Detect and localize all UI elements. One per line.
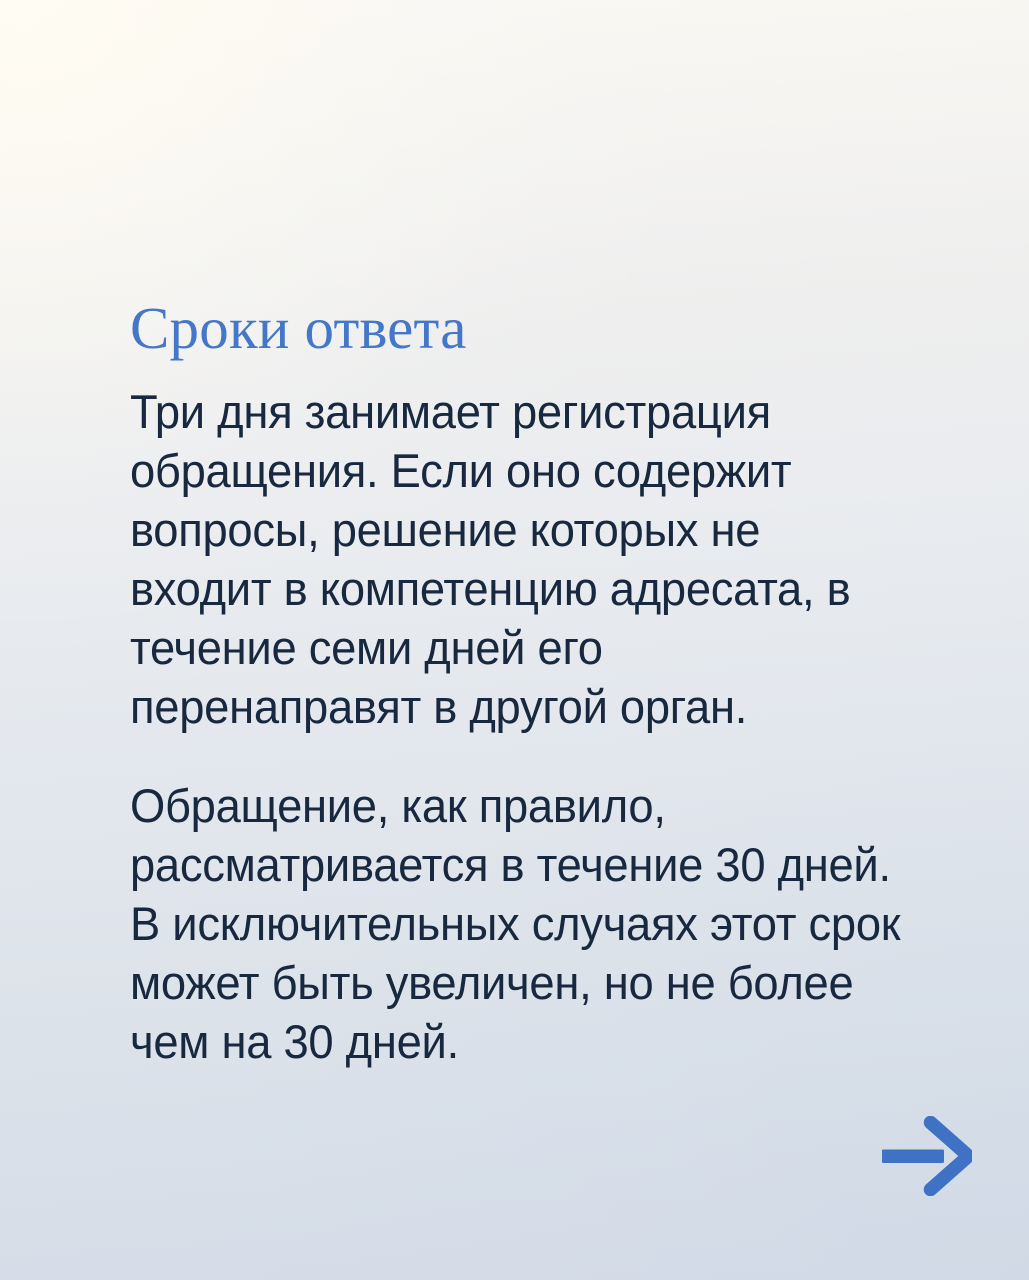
- body-paragraph-1: Три дня занимает регистрация обращения. …: [130, 382, 902, 736]
- page-title: Сроки ответа: [130, 298, 930, 360]
- arrow-right-icon[interactable]: [880, 1116, 972, 1196]
- body-paragraph-2: Обращение, как правило, рассматривается …: [130, 776, 902, 1071]
- slide-content: Сроки ответа Три дня занимает регистраци…: [130, 298, 930, 1071]
- next-slide-button[interactable]: [880, 1116, 972, 1196]
- slide-card: Сроки ответа Три дня занимает регистраци…: [0, 0, 1029, 1280]
